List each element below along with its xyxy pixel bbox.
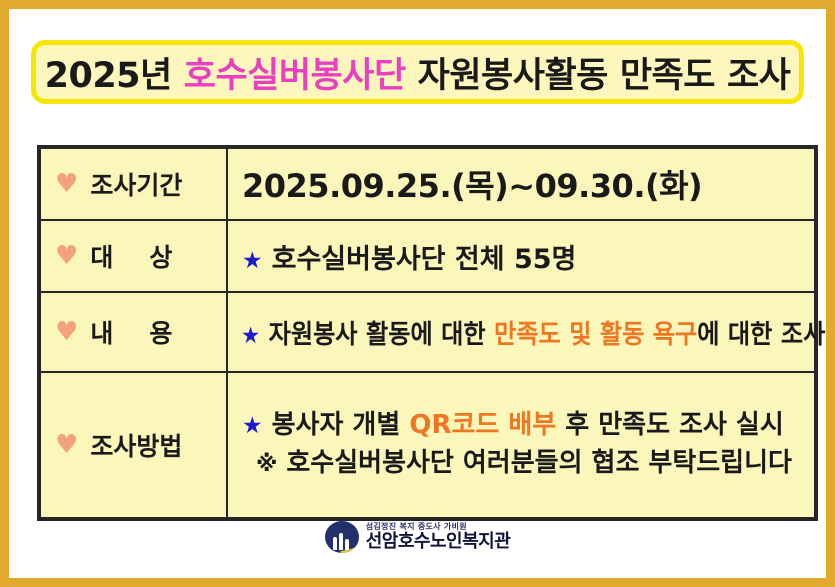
title-part-satisfaction: 만족도: [620, 56, 715, 96]
row-value-method-note: 호수실버봉사단 여러분들의 협조 부탁드립니다: [286, 448, 792, 478]
row-label-content-b: 용: [149, 319, 172, 348]
row-label-cell-content: ♥ 내용: [39, 292, 227, 372]
table-row-method: ♥ 조사방법 ★봉사자 개별 QR코드 배부 후 만족도 조사 실시 ※호수실버…: [39, 372, 816, 519]
row-value-method-line2: ※호수실버봉사단 여러분들의 협조 부탁드립니다: [242, 445, 810, 483]
title-part-activity: 자원봉사활동: [418, 56, 608, 96]
row-value-method-highlight: QR코드 배부: [409, 410, 556, 440]
reference-mark-icon: ※: [256, 452, 277, 477]
heart-icon: ♥: [55, 171, 78, 197]
star-icon: ★: [242, 413, 263, 439]
row-value-cell-period: 2025.09.25.(목)~09.30.(화): [227, 147, 816, 220]
heart-icon: ♥: [55, 432, 78, 458]
row-label-content: 내용: [90, 314, 172, 350]
row-value-method-line1: ★봉사자 개별 QR코드 배부 후 만족도 조사 실시: [242, 407, 810, 445]
heart-icon: ♥: [55, 243, 78, 269]
row-value-method-pre: 봉사자 개별: [272, 410, 410, 440]
footer-logo-text: 섬김정진 복지 중도사 가비원 선암호수노인복지관: [366, 523, 511, 551]
row-value-cell-method: ★봉사자 개별 QR코드 배부 후 만족도 조사 실시 ※호수실버봉사단 여러분…: [227, 372, 816, 519]
title-part-survey: 조사: [727, 56, 790, 96]
survey-info-table: ♥ 조사기간 2025.09.25.(목)~09.30.(화) ♥ 대상: [37, 145, 818, 521]
page-title: 2025년호수실버봉사단자원봉사활동만족도조사: [45, 47, 791, 98]
star-icon: ★: [241, 323, 260, 349]
table-row-target: ♥ 대상 ★호수실버봉사단 전체 55명: [39, 220, 816, 292]
star-icon: ★: [242, 248, 263, 274]
title-part-year: 2025년: [45, 56, 172, 96]
row-value-target: 호수실버봉사단 전체 55명: [272, 244, 577, 275]
row-value-content-highlight: 만족도 및 활동 욕구: [494, 320, 697, 350]
row-value-cell-target: ★호수실버봉사단 전체 55명: [227, 220, 816, 292]
footer-tagline: 섬김정진 복지 중도사 가비원: [366, 523, 511, 531]
row-value-method-post: 후 만족도 조사 실시: [556, 410, 784, 440]
row-label-target-b: 상: [149, 243, 172, 272]
table-row-content: ♥ 내용 ★자원봉사 활동에 대한 만족도 및 활동 욕구에 대한 조사: [39, 292, 816, 372]
row-label-target-a: 대: [90, 243, 113, 272]
table-row-period: ♥ 조사기간 2025.09.25.(목)~09.30.(화): [39, 147, 816, 220]
poster-container: 2025년호수실버봉사단자원봉사활동만족도조사 ♥ 조사기간 2025.09.2…: [0, 0, 835, 587]
row-value-content-pre: 자원봉사 활동에 대한: [269, 320, 494, 350]
row-label-cell-method: ♥ 조사방법: [39, 372, 227, 519]
row-label-cell-target: ♥ 대상: [39, 220, 227, 292]
welfare-center-logo-icon: [325, 521, 359, 553]
row-value-content-post: 에 대한 조사: [697, 320, 825, 350]
footer-organization-name: 선암호수노인복지관: [366, 533, 511, 551]
row-label-target: 대상: [90, 238, 172, 274]
row-label-content-a: 내: [90, 319, 113, 348]
row-label-cell-period: ♥ 조사기간: [39, 147, 227, 220]
heart-icon: ♥: [55, 319, 78, 345]
footer-logo: 섬김정진 복지 중도사 가비원 선암호수노인복지관: [9, 521, 826, 553]
poster-title-box: 2025년호수실버봉사단자원봉사활동만족도조사: [31, 40, 804, 104]
row-value-cell-content: ★자원봉사 활동에 대한 만족도 및 활동 욕구에 대한 조사: [227, 292, 816, 372]
title-highlight-organization: 호수실버봉사단: [184, 56, 406, 96]
row-label-period: 조사기간: [90, 166, 182, 202]
row-label-method: 조사방법: [90, 427, 182, 463]
row-value-period: 2025.09.25.(목)~09.30.(화): [242, 167, 702, 205]
